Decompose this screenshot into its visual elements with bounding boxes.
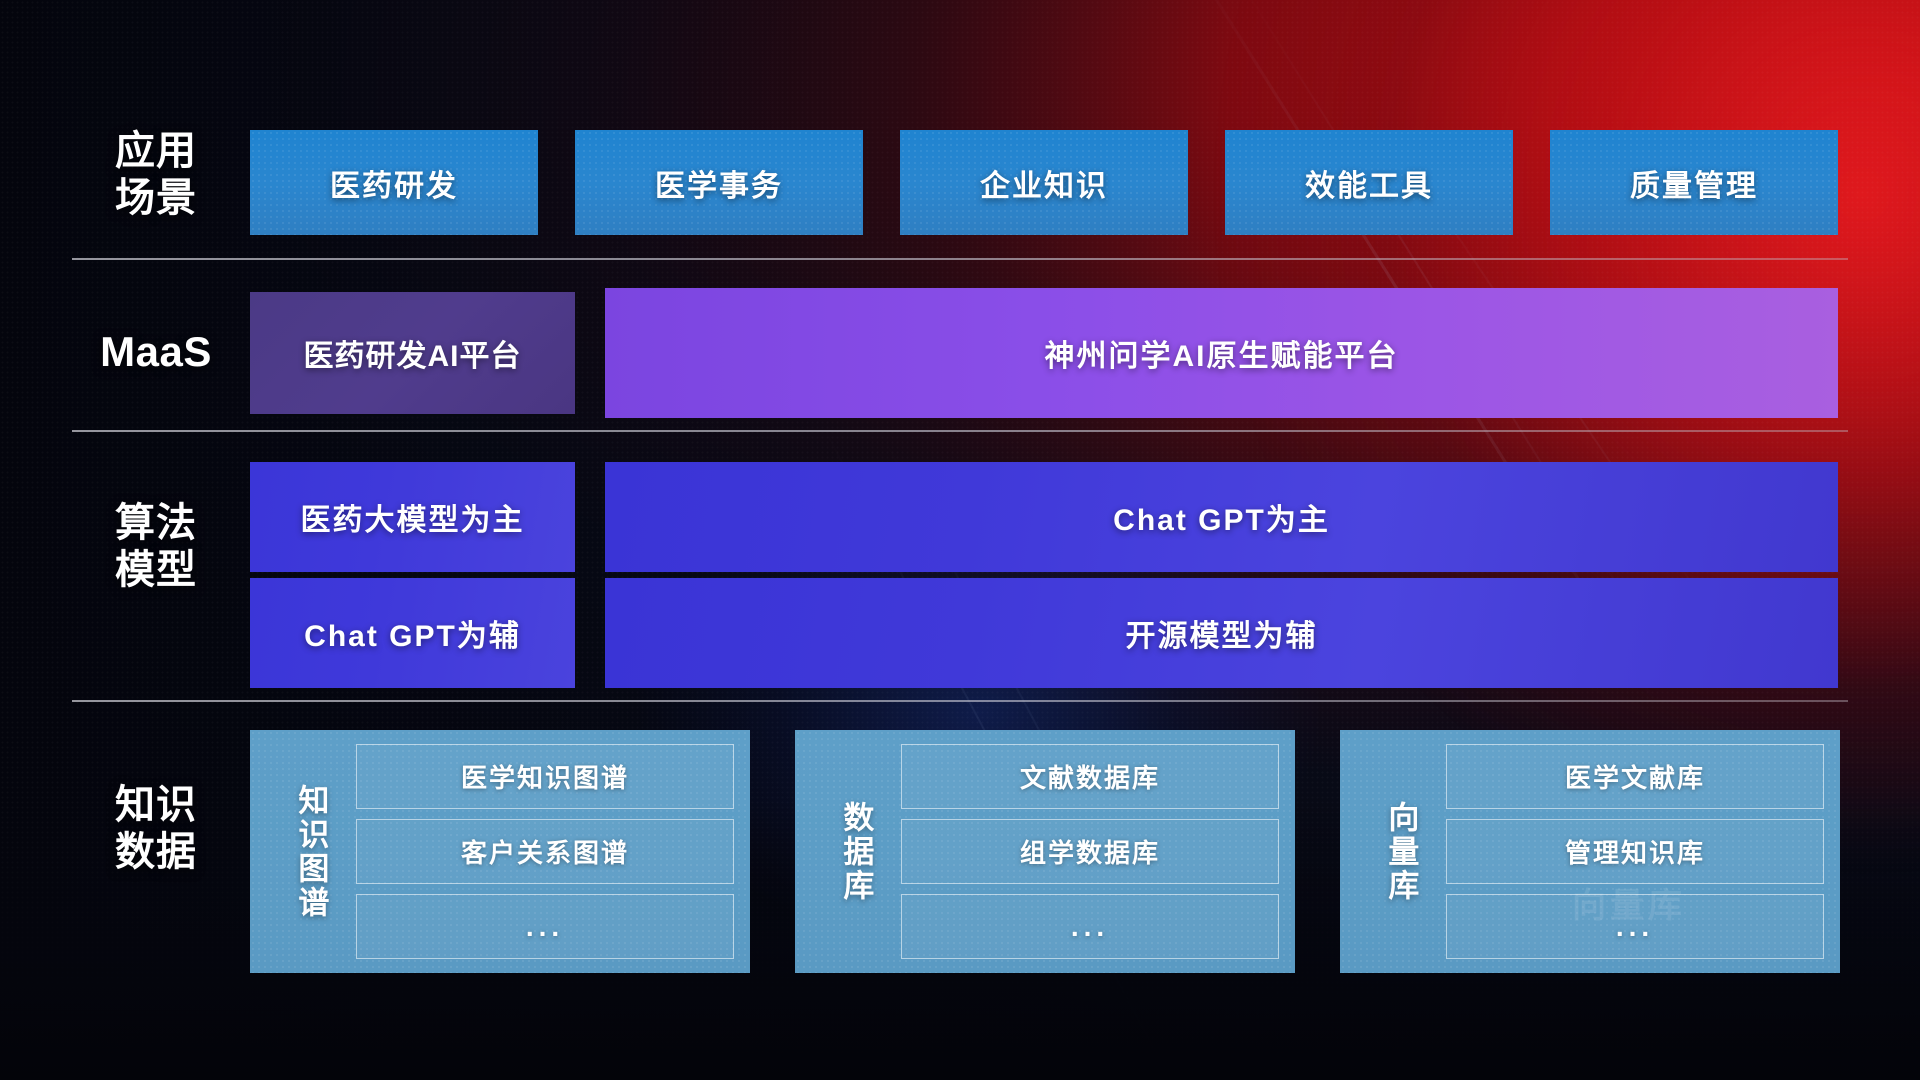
algo-right-box-2-label: 开源模型为辅 (1126, 611, 1318, 655)
divider-application-maas (72, 258, 1848, 260)
app-box-5[interactable]: 质量管理 (1550, 130, 1838, 235)
app-box-4[interactable]: 效能工具 (1225, 130, 1513, 235)
row-label-maas: MaaS (72, 327, 240, 377)
knowledge-group-2-item-3[interactable]: ... (901, 894, 1279, 959)
row-label-application: 应用场景 应用 场景 (72, 128, 240, 222)
row-label-maas-text: MaaS (72, 327, 240, 377)
knowledge-group-3-item-3[interactable]: ... (1446, 894, 1824, 959)
row-label-knowledge-text: 知识 数据 (72, 782, 240, 876)
maas-right-box-label: 神州问学AI原生赋能平台 (1045, 331, 1399, 375)
knowledge-group-2-title: 数据库 (809, 744, 901, 959)
app-box-4-label: 效能工具 (1305, 161, 1433, 205)
algo-right-box-1-label: Chat GPT为主 (1113, 495, 1330, 539)
knowledge-group-2[interactable]: 数据库 文献数据库 组学数据库 ... (795, 730, 1295, 973)
maas-left-box[interactable]: 医药研发AI平台 (250, 292, 575, 414)
knowledge-group-1[interactable]: 知识图谱 医学知识图谱 客户关系图谱 ... (250, 730, 750, 973)
app-box-2-label: 医学事务 (655, 161, 783, 205)
row-label-algorithm-text: 算法 模型 (72, 500, 240, 594)
knowledge-group-1-item-3[interactable]: ... (356, 894, 734, 959)
algo-right-box-1[interactable]: Chat GPT为主 (605, 462, 1838, 572)
slide-canvas: 应用场景 应用 场景 MaaS 算法 模型 知识 数据 医药研发 医学事务 企业… (0, 0, 1920, 1080)
knowledge-group-1-items: 医学知识图谱 客户关系图谱 ... (356, 744, 734, 959)
knowledge-group-1-title: 知识图谱 (264, 744, 356, 959)
maas-left-box-label: 医药研发AI平台 (304, 331, 522, 375)
knowledge-group-3[interactable]: 向量库 医学文献库 管理知识库 ... 向量库 (1340, 730, 1840, 973)
app-box-3[interactable]: 企业知识 (900, 130, 1188, 235)
knowledge-group-1-item-2[interactable]: 客户关系图谱 (356, 819, 734, 884)
algo-left-box-1[interactable]: 医药大模型为主 (250, 462, 575, 572)
row-label-knowledge: 知识 数据 (72, 782, 240, 876)
divider-algorithm-knowledge (72, 700, 1848, 702)
app-box-2[interactable]: 医学事务 (575, 130, 863, 235)
algo-left-box-2-label: Chat GPT为辅 (304, 611, 521, 655)
row-label-algorithm: 算法 模型 (72, 500, 240, 594)
algo-left-box-1-label: 医药大模型为主 (301, 495, 525, 539)
app-box-1[interactable]: 医药研发 (250, 130, 538, 235)
knowledge-group-2-item-1[interactable]: 文献数据库 (901, 744, 1279, 809)
knowledge-group-1-item-1[interactable]: 医学知识图谱 (356, 744, 734, 809)
knowledge-group-3-title: 向量库 (1354, 744, 1446, 959)
algo-left-box-2[interactable]: Chat GPT为辅 (250, 578, 575, 688)
algo-right-box-2[interactable]: 开源模型为辅 (605, 578, 1838, 688)
row-label-application-text: 应用 场景 (72, 128, 240, 222)
knowledge-group-2-item-2[interactable]: 组学数据库 (901, 819, 1279, 884)
knowledge-group-3-item-1[interactable]: 医学文献库 (1446, 744, 1824, 809)
app-box-1-label: 医药研发 (330, 161, 458, 205)
app-box-3-label: 企业知识 (980, 161, 1108, 205)
maas-right-box[interactable]: 神州问学AI原生赋能平台 (605, 288, 1838, 418)
divider-maas-algorithm (72, 430, 1848, 432)
knowledge-group-3-items: 医学文献库 管理知识库 ... (1446, 744, 1824, 959)
knowledge-group-2-items: 文献数据库 组学数据库 ... (901, 744, 1279, 959)
app-box-5-label: 质量管理 (1630, 161, 1758, 205)
diagram-content: 应用场景 应用 场景 MaaS 算法 模型 知识 数据 医药研发 医学事务 企业… (0, 0, 1920, 1080)
knowledge-group-3-item-2[interactable]: 管理知识库 (1446, 819, 1824, 884)
